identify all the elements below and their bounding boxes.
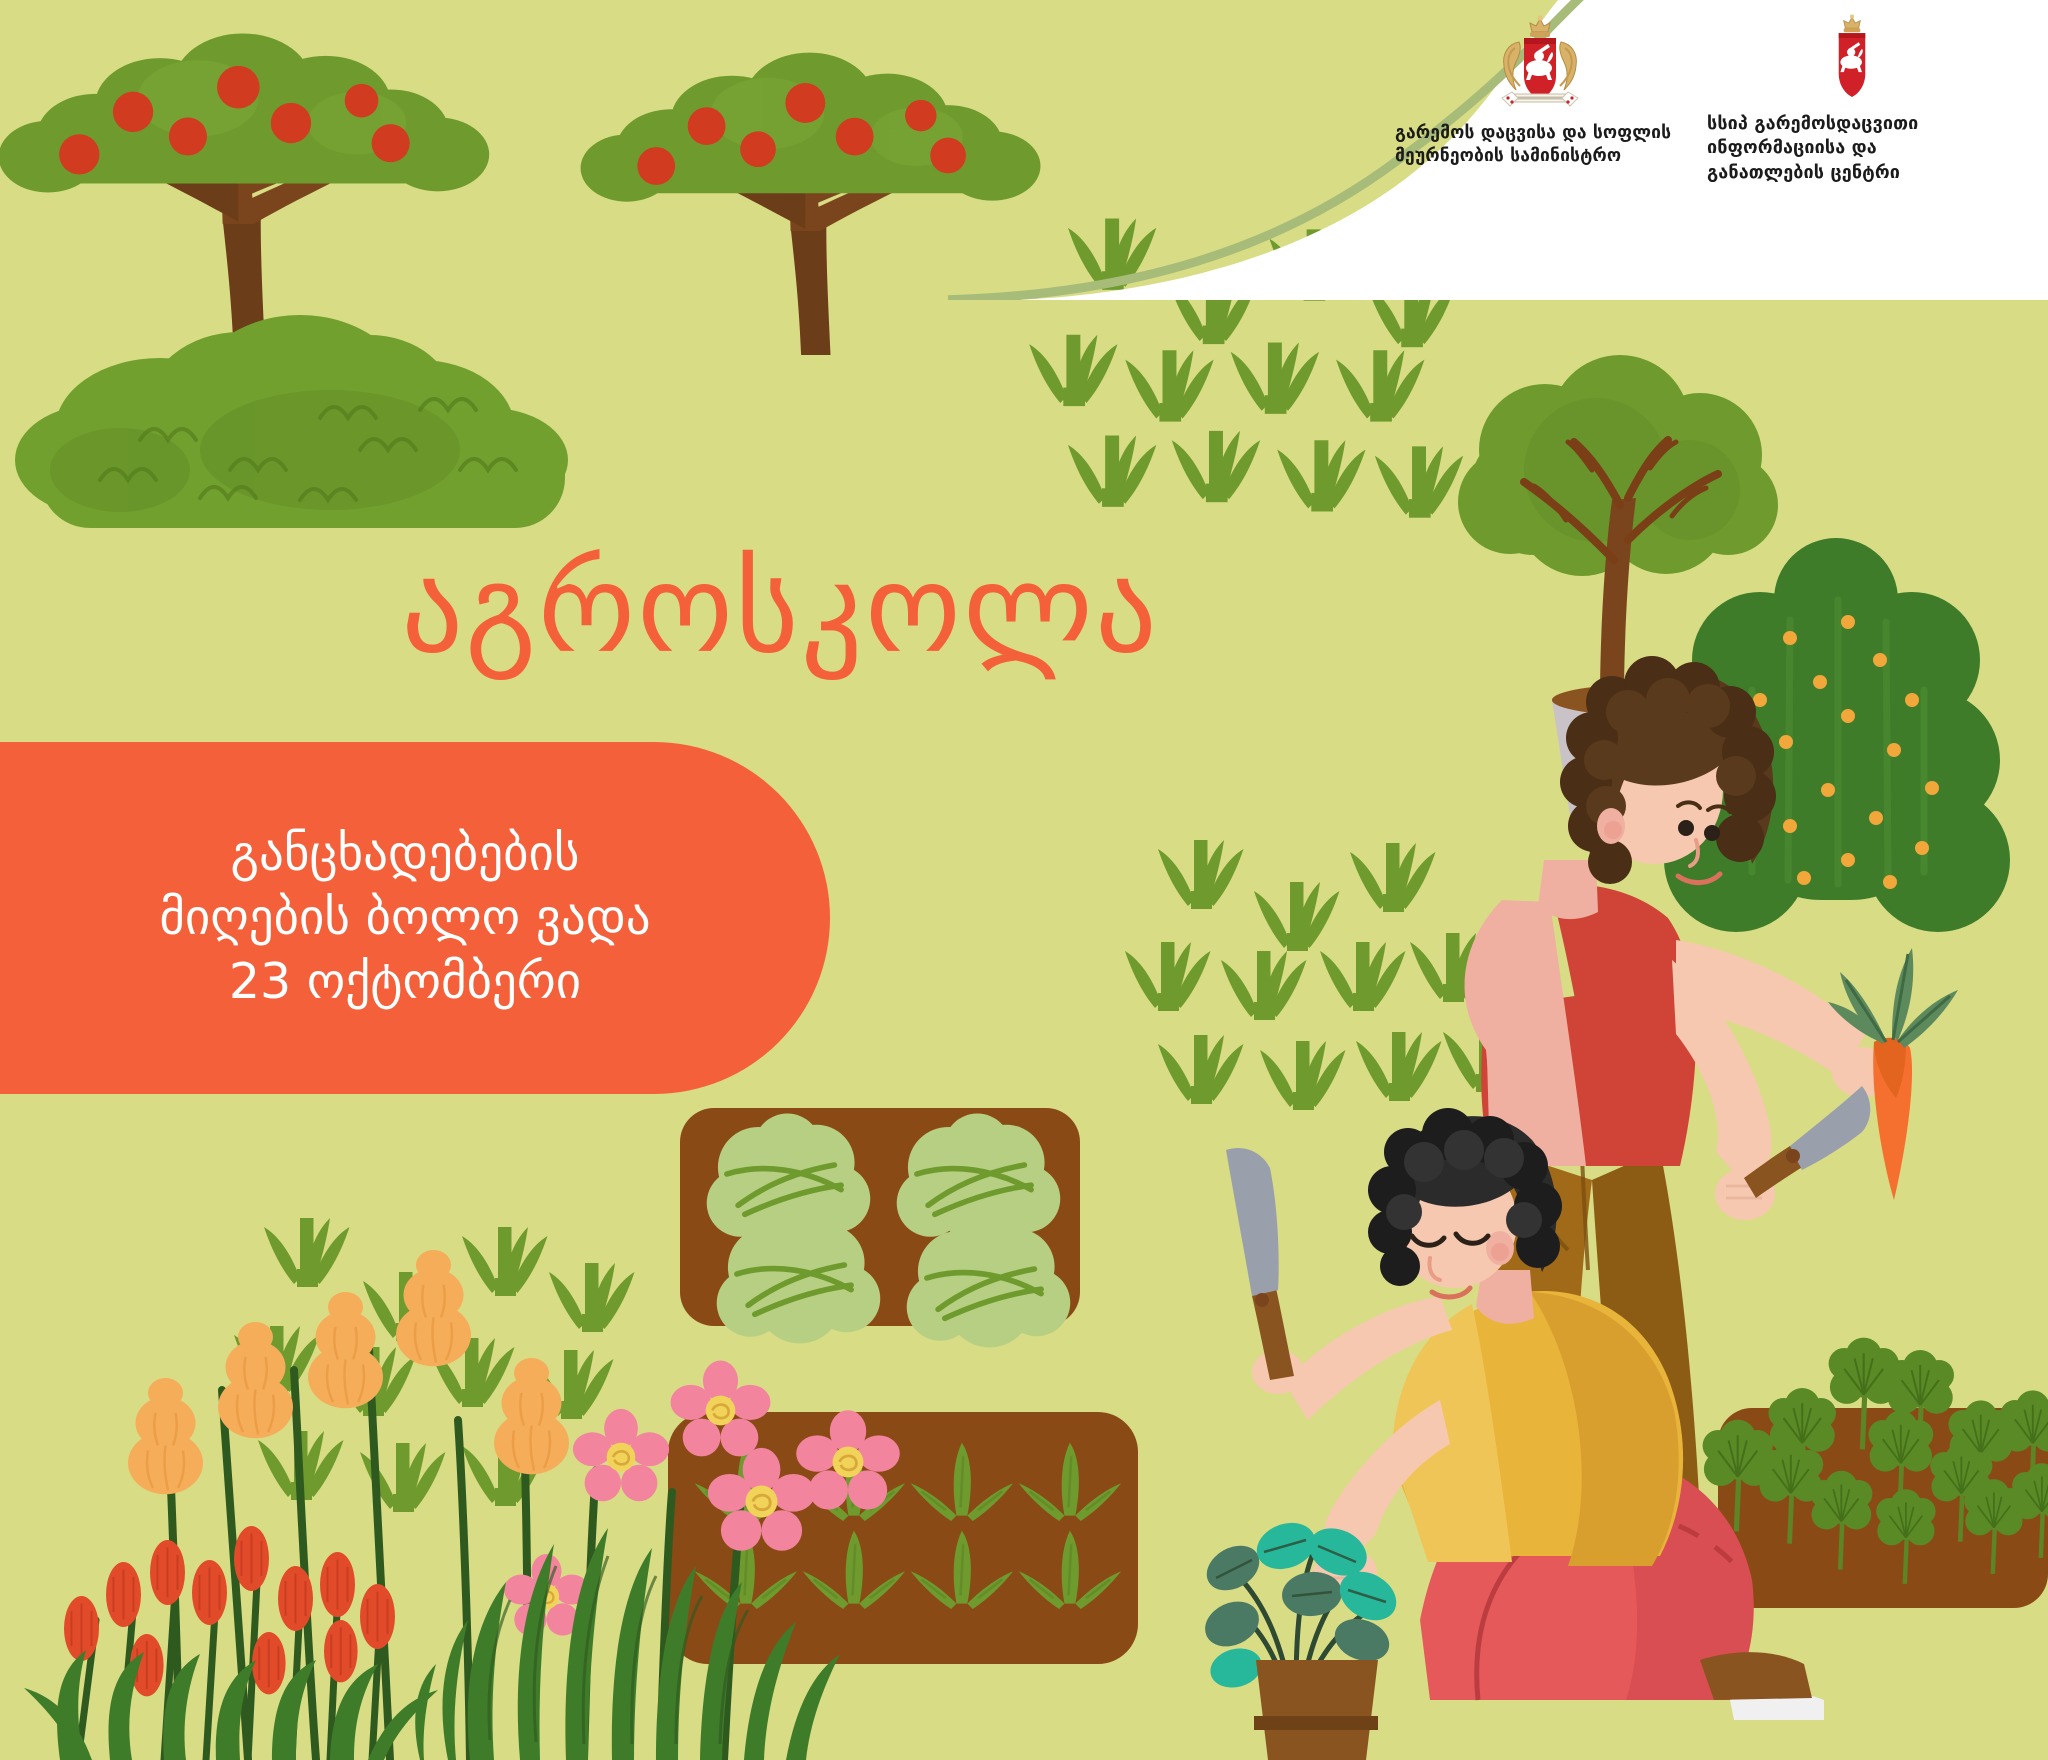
- logo-center-line3: განათლების ცენტრი: [1707, 161, 1997, 185]
- deadline-line-1: განცხადებების: [159, 822, 650, 886]
- deadline-banner: განცხადებების მიღების ბოლო ვადა 23 ოქტომ…: [0, 742, 830, 1094]
- logo-ministry-line2: მეურნეობის სამინისტრო: [1395, 145, 1685, 168]
- logo-center-line2: ინფორმაციისა და: [1707, 136, 1997, 160]
- header-logos: გარემოს დაცვისა და სოფლის მეურნეობის სამ…: [1395, 0, 2035, 185]
- georgia-coat-of-arms-icon: [1492, 14, 1588, 114]
- logo-ministry: გარემოს დაცვისა და სოფლის მეურნეობის სამ…: [1395, 0, 1685, 185]
- logo-ministry-caption: გარემოს დაცვისა და სოფლის მეურნეობის სამ…: [1395, 122, 1685, 169]
- deadline-line-2: მიღების ბოლო ვადა: [159, 886, 650, 950]
- logo-center-line1: სსიპ გარემოსდაცვითი: [1707, 112, 1997, 136]
- poster-root: გარემოს დაცვისა და სოფლის მეურნეობის სამ…: [0, 0, 2048, 1760]
- logo-center-caption: სსიპ გარემოსდაცვითი ინფორმაციისა და განა…: [1707, 112, 1997, 185]
- deadline-text: განცხადებების მიღების ბოლო ვადა 23 ოქტომ…: [159, 822, 650, 1013]
- woman-head: [1560, 656, 1776, 884]
- georgia-small-shield-icon: [1819, 14, 1885, 104]
- logo-center: სსიპ გარემოსდაცვითი ინფორმაციისა და განა…: [1707, 0, 1997, 185]
- page-title: აგროსკოლა: [0, 548, 1560, 670]
- cabbage-bed: [680, 1108, 1080, 1347]
- deadline-line-3: 23 ოქტომბერი: [159, 950, 650, 1014]
- logo-ministry-line1: გარემოს დაცვისა და სოფლის: [1395, 122, 1685, 145]
